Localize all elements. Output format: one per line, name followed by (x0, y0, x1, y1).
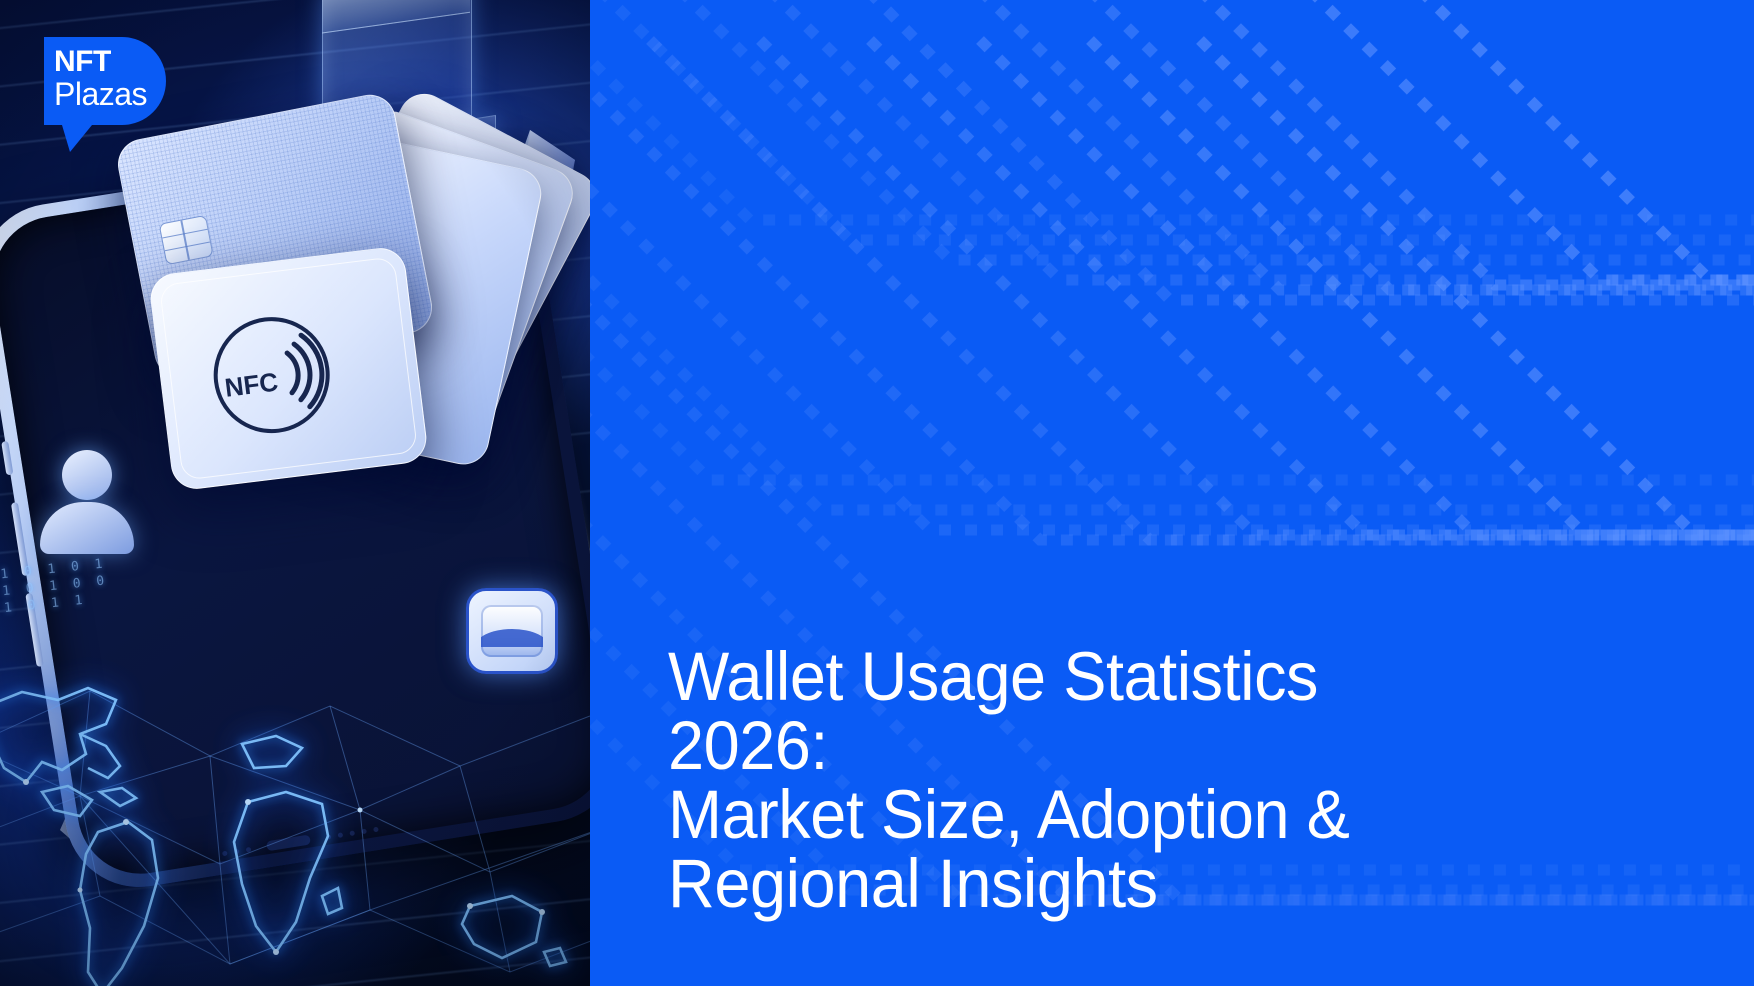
logo-wordmark: NFT Plazas (54, 47, 147, 110)
content-panel: Wallet Usage Statistics 2026: Market Siz… (590, 0, 1754, 986)
article-banner: NFC 1 0 1 0 1 1 0 1 0 0 1 0 1 1 (0, 0, 1754, 986)
logo-line-nft: NFT (54, 47, 147, 77)
logo-line-plazas: Plazas (54, 78, 147, 110)
nft-plazas-logo[interactable]: NFT Plazas (40, 37, 180, 152)
page-title: Wallet Usage Statistics 2026: Market Siz… (668, 642, 1448, 918)
